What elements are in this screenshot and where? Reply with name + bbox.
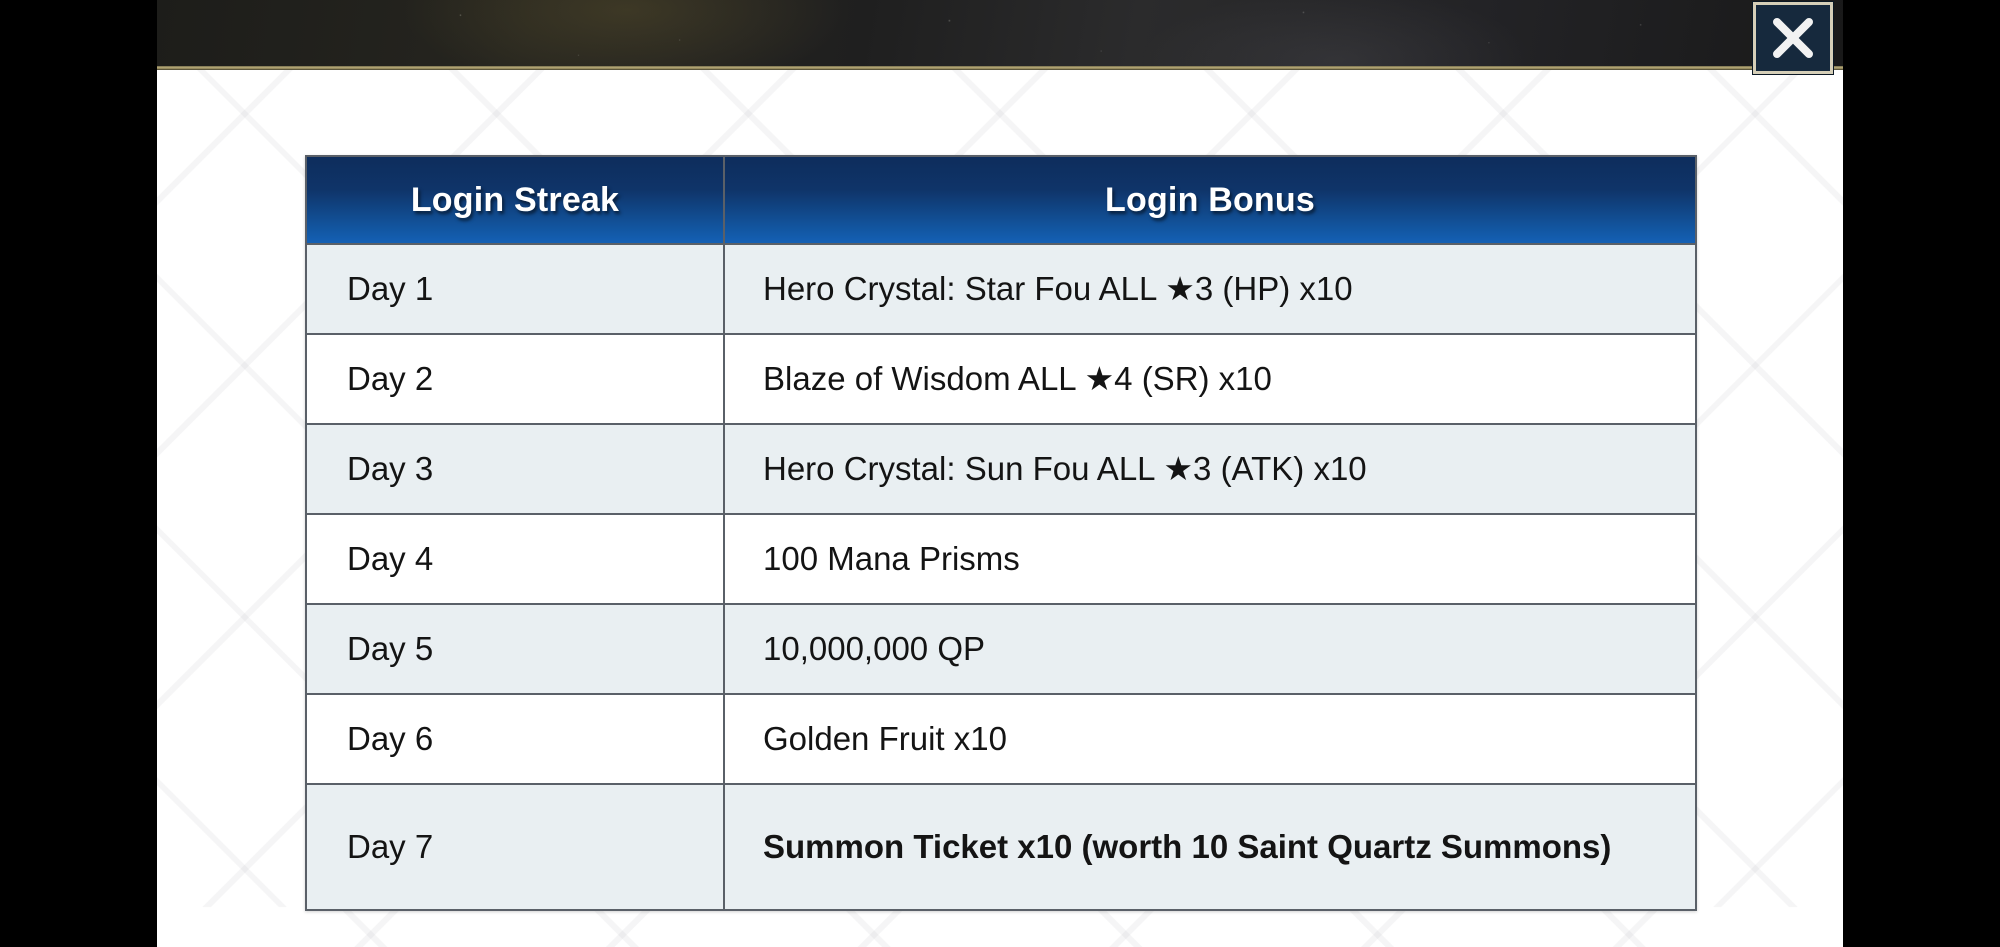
table-row: Day 6 Golden Fruit x10 [306,694,1696,784]
cell-login-bonus: Hero Crystal: Star Fou ALL ★3 (HP) x10 [724,244,1696,334]
close-x-icon [1768,13,1818,63]
login-bonus-table: Login Streak Login Bonus Day 1 Hero Crys… [305,155,1697,911]
cell-login-bonus: Hero Crystal: Sun Fou ALL ★3 (ATK) x10 [724,424,1696,514]
column-header-login-streak: Login Streak [306,156,724,244]
table-header-row: Login Streak Login Bonus [306,156,1696,244]
column-header-login-bonus: Login Bonus [724,156,1696,244]
close-button[interactable] [1753,2,1833,74]
cell-login-streak: Day 4 [306,514,724,604]
cell-login-bonus: 100 Mana Prisms [724,514,1696,604]
cell-login-streak: Day 1 [306,244,724,334]
banner-gold-divider [157,66,1843,70]
cell-login-streak: Day 2 [306,334,724,424]
table-row: Day 4 100 Mana Prisms [306,514,1696,604]
cell-login-streak: Day 5 [306,604,724,694]
table-row: Day 5 10,000,000 QP [306,604,1696,694]
banner-sparkle-texture [157,0,1843,69]
app-screen: Login Streak Login Bonus Day 1 Hero Crys… [0,0,2000,947]
cell-login-streak: Day 6 [306,694,724,784]
letterbox-bar-right [1843,0,2000,947]
letterbox-bar-left [0,0,157,947]
cell-login-streak: Day 3 [306,424,724,514]
cell-login-streak: Day 7 [306,784,724,910]
dialog-banner [157,0,1843,69]
table-row: Day 3 Hero Crystal: Sun Fou ALL ★3 (ATK)… [306,424,1696,514]
table-row: Day 7 Summon Ticket x10 (worth 10 Saint … [306,784,1696,910]
table-row: Day 2 Blaze of Wisdom ALL ★4 (SR) x10 [306,334,1696,424]
cell-login-bonus: Golden Fruit x10 [724,694,1696,784]
cell-login-bonus: 10,000,000 QP [724,604,1696,694]
cell-login-bonus-highlight: Summon Ticket x10 (worth 10 Saint Quartz… [724,784,1696,910]
cell-login-bonus: Blaze of Wisdom ALL ★4 (SR) x10 [724,334,1696,424]
table-row: Day 1 Hero Crystal: Star Fou ALL ★3 (HP)… [306,244,1696,334]
